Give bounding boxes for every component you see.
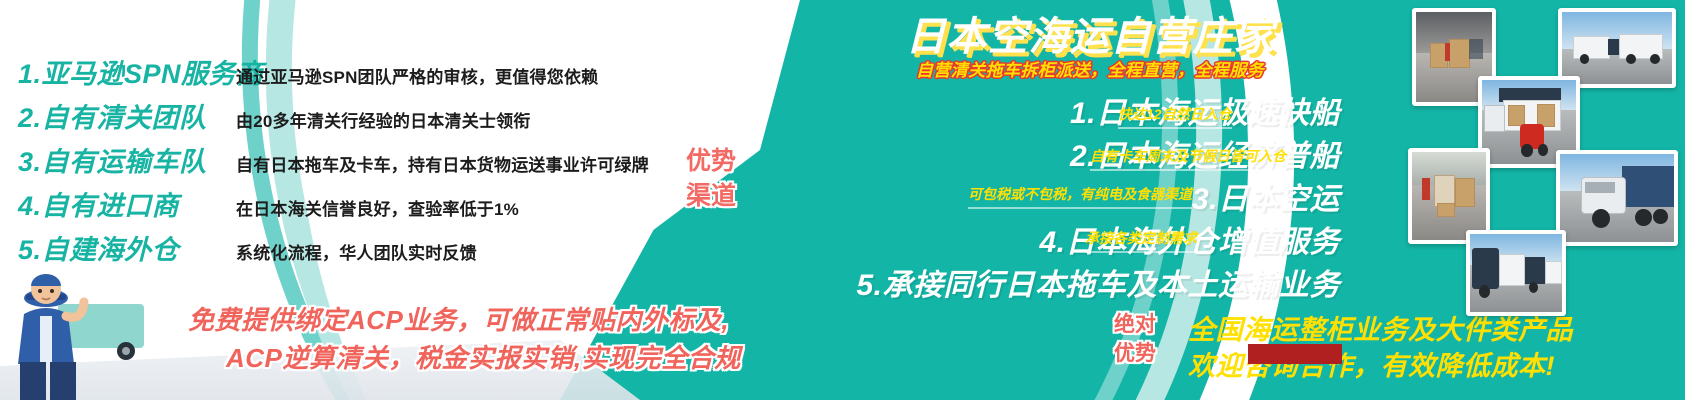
page-subtitle: 自营清关拖车拆柜派送，全程直营，全程服务 [830, 56, 1350, 81]
service-note: 自有卡车周末及节假日皆可入仓 [1090, 146, 1286, 171]
promo-banner: 1.亚马逊SPN服务商 通过亚马逊SPN团队严格的审核，更值得您依赖 2.自有清… [0, 0, 1685, 400]
feature-desc: 在日本海关信誉良好，查验率低于1% [236, 195, 519, 220]
delivery-worker-illustration [0, 250, 200, 400]
acp-promo-line2: ACP逆算清关，税金实报实销,实现完全合规 [226, 338, 741, 375]
list-item: 4.自有进口商 在日本海关信誉良好，查验率低于1% [18, 184, 708, 228]
feature-title: 1.亚马逊SPN服务商 [18, 52, 236, 91]
advantage-badge-line1: 优势 [672, 144, 750, 179]
feature-desc: 系统化流程，华人团队实时反馈 [236, 239, 477, 264]
list-item: 5.承接同行日本拖车及本土运输业务 [740, 260, 1340, 303]
bottom-right-line2: 欢迎咨询合作，有效降低成本! [1188, 344, 1555, 383]
list-item: 1.日本海运极速快船 [740, 88, 1340, 131]
advantage-badge-line2: 渠道 [672, 179, 750, 214]
list-item: 2.自有清关团队 由20多年清关行经验的日本清关士领衔 [18, 96, 708, 140]
absolute-advantage-badge: 绝对 优势 [1104, 310, 1166, 368]
feature-title: 2.自有清关团队 [18, 96, 236, 135]
service-label: 3.日本空运 [1192, 174, 1340, 218]
service-label: 5.承接同行日本拖车及本土运输业务 [856, 260, 1340, 304]
redaction-bar [1248, 344, 1342, 364]
list-item: 1.亚马逊SPN服务商 通过亚马逊SPN团队严格的审核，更值得您依赖 [18, 52, 708, 96]
list-item: 4.日本海外仓增值服务 [740, 217, 1340, 260]
feature-desc: 由20多年清关行经验的日本清关士领衔 [236, 107, 531, 132]
page-title: 日本空海运自营庄家 [880, 4, 1300, 62]
photo-truck-row-yard [1466, 230, 1566, 316]
service-note: 承接各类定制需求 [1085, 228, 1197, 253]
absolute-badge-line1: 绝对 [1104, 310, 1166, 339]
list-item: 3.自有运输车队 自有日本拖车及卡车，持有日本货物运送事业许可绿牌 [18, 140, 708, 184]
service-note: 可包税或不包税，有纯电及食器渠道 [968, 184, 1192, 209]
feature-desc: 自有日本拖车及卡车，持有日本货物运送事业许可绿牌 [236, 151, 649, 176]
feature-desc: 通过亚马逊SPN团队严格的审核，更值得您依赖 [236, 63, 598, 88]
photo-container-truck [1556, 150, 1678, 246]
advantage-channel-badge: 优势 渠道 [672, 144, 750, 214]
feature-title: 4.自有进口商 [18, 184, 236, 223]
absolute-badge-line2: 优势 [1104, 339, 1166, 368]
service-note: 快达12自然日入仓 [1118, 104, 1232, 129]
feature-title: 3.自有运输车队 [18, 140, 236, 179]
left-feature-list: 1.亚马逊SPN服务商 通过亚马逊SPN团队严格的审核，更值得您依赖 2.自有清… [18, 52, 708, 272]
acp-promo-line1: 免费提供绑定ACP业务，可做正常贴内外标及, [188, 300, 729, 337]
